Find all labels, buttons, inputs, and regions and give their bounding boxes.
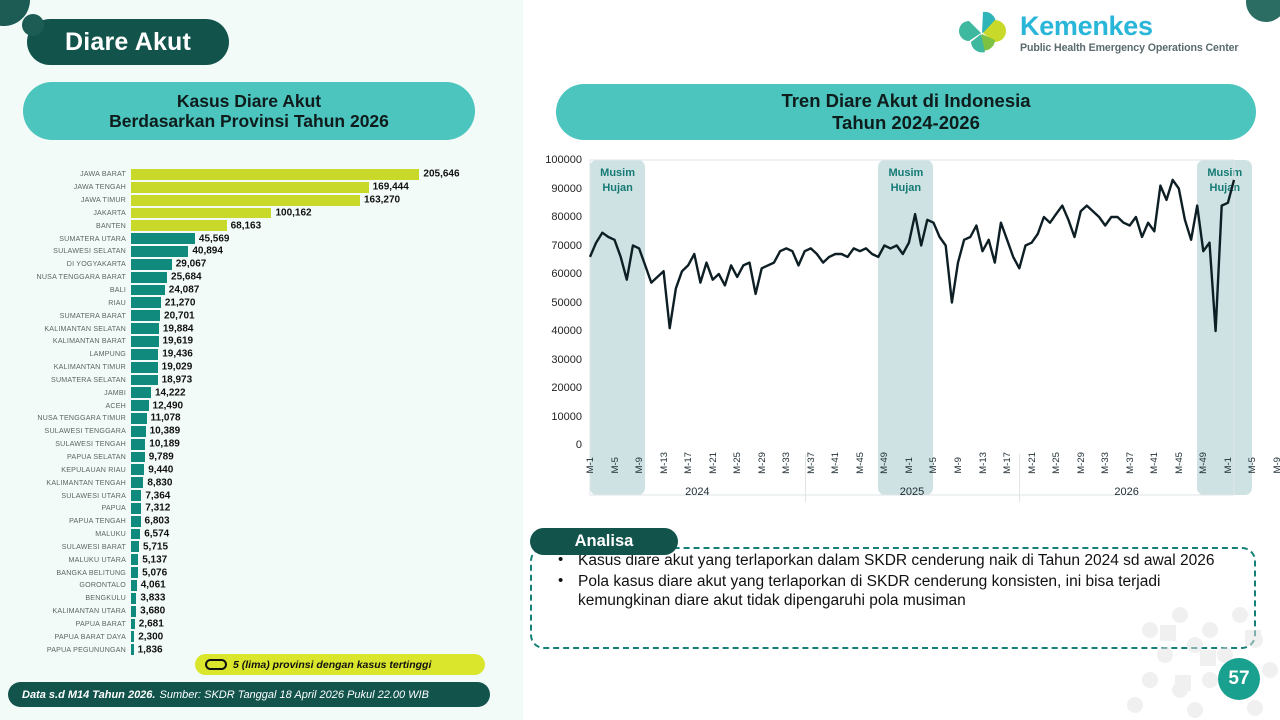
x-axis-tick-label: M-49: [1198, 452, 1209, 474]
bar-track: 2,681: [131, 618, 523, 631]
bar-track: 24,087: [131, 284, 523, 297]
year-separator: [1019, 454, 1020, 502]
bar-label: SULAWESI TENGAH: [0, 440, 131, 448]
bar-fill: [131, 439, 145, 450]
bar-row: ACEH12,490: [0, 399, 523, 412]
bar-fill: [131, 246, 188, 257]
bar-track: 19,436: [131, 348, 523, 361]
legend-capsule-icon: [205, 659, 227, 670]
bar-fill: [131, 195, 360, 206]
bar-label: PAPUA PEGUNUNGAN: [0, 646, 131, 654]
bar-label: PAPUA TENGAH: [0, 517, 131, 525]
corner-decoration-dot: [22, 14, 44, 36]
bar-fill: [131, 580, 137, 591]
x-axis-tick-label: M-13: [978, 452, 989, 474]
x-axis-tick-label: M-5: [928, 457, 939, 474]
bar-row: GORONTALO4,061: [0, 579, 523, 592]
bar-label: ACEH: [0, 402, 131, 410]
bar-row: BENGKULU3,833: [0, 592, 523, 605]
bar-fill: [131, 452, 145, 463]
bar-label: SULAWESI BARAT: [0, 543, 131, 551]
x-axis-tick-label: M-13: [659, 452, 670, 474]
bar-value: 29,067: [176, 259, 207, 270]
bar-label: SUMATERA BARAT: [0, 312, 131, 320]
bar-value: 40,894: [192, 246, 223, 257]
bar-row: PAPUA SELATAN9,789: [0, 451, 523, 464]
bar-row: PAPUA TENGAH6,803: [0, 515, 523, 528]
bar-value: 163,270: [364, 195, 400, 206]
bar-label: NUSA TENGGARA BARAT: [0, 273, 131, 281]
bar-value: 45,569: [199, 233, 230, 244]
bar-row: SUMATERA UTARA45,569: [0, 232, 523, 245]
bar-fill: [131, 169, 419, 180]
x-axis-tick-label: M-37: [806, 452, 817, 474]
bar-fill: [131, 503, 141, 514]
left-chart-title: Kasus Diare Akut Berdasarkan Provinsi Ta…: [23, 82, 475, 140]
bar-value: 100,162: [275, 207, 311, 218]
bar-fill: [131, 541, 139, 552]
bar-track: 10,189: [131, 438, 523, 451]
bar-track: 100,162: [131, 207, 523, 220]
bar-value: 2,681: [139, 618, 164, 629]
bar-label: JAWA TIMUR: [0, 196, 131, 204]
bar-label: PAPUA SELATAN: [0, 453, 131, 461]
bar-value: 68,163: [231, 220, 262, 231]
bar-row: MALUKU6,574: [0, 528, 523, 541]
x-axis-tick-label: M-9: [1272, 457, 1280, 474]
bar-value: 6,574: [144, 529, 169, 540]
x-axis-tick-label: M-29: [757, 452, 768, 474]
bar-track: 40,894: [131, 245, 523, 258]
bar-row: SULAWESI TENGAH10,189: [0, 438, 523, 451]
bar-value: 6,803: [145, 516, 170, 527]
bar-fill: [131, 644, 134, 655]
x-axis-tick-label: M-17: [1002, 452, 1013, 474]
bar-track: 11,078: [131, 412, 523, 425]
bar-fill: [131, 310, 160, 321]
year-separator: [805, 454, 806, 502]
decorative-pattern: [1090, 590, 1280, 720]
bar-value: 20,701: [164, 310, 195, 321]
x-axis-year-label: 2026: [1019, 486, 1234, 498]
bar-label: KALIMANTAN SELATAN: [0, 325, 131, 333]
bar-label: NUSA TENGGARA TIMUR: [0, 414, 131, 422]
x-axis-tick-label: M-9: [634, 457, 645, 474]
bar-label: PAPUA: [0, 504, 131, 512]
province-bar-chart: JAWA BARAT205,646JAWA TENGAH169,444JAWA …: [0, 168, 523, 663]
x-axis-year-label: 2025: [805, 486, 1020, 498]
bar-track: 205,646: [131, 168, 523, 181]
bar-label: GORONTALO: [0, 581, 131, 589]
bar-fill: [131, 593, 136, 604]
bar-fill: [131, 413, 147, 424]
bar-row: KALIMANTAN TIMUR19,029: [0, 361, 523, 374]
bar-track: 5,137: [131, 553, 523, 566]
page-title: Diare Akut: [27, 19, 229, 65]
bar-fill: [131, 208, 271, 219]
kemenkes-brand: Kemenkes: [1020, 13, 1238, 40]
bar-row: KALIMANTAN UTARA3,680: [0, 605, 523, 618]
x-axis-tick-label: M-41: [1149, 452, 1160, 474]
right-chart-title: Tren Diare Akut di Indonesia Tahun 2024-…: [556, 84, 1256, 140]
page-number-badge: 57: [1218, 658, 1260, 700]
analisa-tab-label: Analisa: [575, 532, 634, 551]
bar-value: 18,973: [162, 374, 193, 385]
bar-track: 9,789: [131, 451, 523, 464]
bar-value: 21,270: [165, 297, 196, 308]
bar-row: JAWA TENGAH169,444: [0, 181, 523, 194]
bar-track: 68,163: [131, 219, 523, 232]
bar-label: KALIMANTAN TENGAH: [0, 479, 131, 487]
x-axis-tick-label: M-9: [953, 457, 964, 474]
bar-value: 25,684: [171, 272, 202, 283]
bar-row: SULAWESI SELATAN40,894: [0, 245, 523, 258]
bar-track: 163,270: [131, 194, 523, 207]
x-axis-tick-label: M-29: [1076, 452, 1087, 474]
bar-label: JAWA BARAT: [0, 170, 131, 178]
bar-fill: [131, 567, 138, 578]
bar-fill: [131, 464, 144, 475]
bar-fill: [131, 426, 146, 437]
bar-label: JAKARTA: [0, 209, 131, 217]
x-axis-tick-label: M-5: [610, 457, 621, 474]
bar-row: JAMBI14,222: [0, 386, 523, 399]
kemenkes-logo-text: Kemenkes Public Health Emergency Operati…: [1020, 13, 1238, 54]
bar-track: 7,312: [131, 502, 523, 515]
bar-value: 5,715: [143, 541, 168, 552]
bar-label: PAPUA BARAT DAYA: [0, 633, 131, 641]
bar-value: 9,440: [148, 464, 173, 475]
bar-value: 7,364: [145, 490, 170, 501]
bar-track: 4,061: [131, 579, 523, 592]
bar-label: DI YOGYAKARTA: [0, 260, 131, 268]
kemenkes-logo: Kemenkes Public Health Emergency Operati…: [955, 8, 1238, 58]
right-chart-title-line1: Tren Diare Akut di Indonesia: [781, 90, 1030, 112]
bar-row: SUMATERA BARAT20,701: [0, 309, 523, 322]
bar-fill: [131, 285, 165, 296]
x-axis-tick-label: M-25: [732, 452, 743, 474]
bar-row: MALUKU UTARA5,137: [0, 553, 523, 566]
bar-label: KALIMANTAN BARAT: [0, 337, 131, 345]
bar-fill: [131, 349, 158, 360]
bar-track: 45,569: [131, 232, 523, 245]
bar-label: SUMATERA SELATAN: [0, 376, 131, 384]
bar-fill: [131, 387, 151, 398]
bar-label: SUMATERA UTARA: [0, 235, 131, 243]
bar-track: 2,300: [131, 630, 523, 643]
footer-data-period: Data s.d M14 Tahun 2026.: [22, 689, 155, 701]
bar-fill: [131, 490, 141, 501]
bar-label: SULAWESI SELATAN: [0, 247, 131, 255]
bar-value: 19,884: [163, 323, 194, 334]
bar-label: KEPULAUAN RIAU: [0, 466, 131, 474]
x-axis-tick-label: M-41: [830, 452, 841, 474]
bar-row: BANGKA BELITUNG5,076: [0, 566, 523, 579]
kemenkes-logo-mark: [955, 8, 1011, 58]
bar-row: KALIMANTAN TENGAH8,830: [0, 476, 523, 489]
analisa-tab: Analisa: [530, 528, 678, 555]
bar-fill: [131, 554, 138, 565]
bar-label: JAMBI: [0, 389, 131, 397]
bar-value: 14,222: [155, 387, 186, 398]
bar-label: KALIMANTAN TIMUR: [0, 363, 131, 371]
bar-label: BANTEN: [0, 222, 131, 230]
bar-row: PAPUA BARAT DAYA2,300: [0, 630, 523, 643]
bar-row: BANTEN68,163: [0, 219, 523, 232]
corner-decoration-top-right: [1246, 0, 1280, 22]
bar-value: 19,619: [163, 336, 194, 347]
bar-track: 14,222: [131, 386, 523, 399]
x-axis-tick-label: M-45: [855, 452, 866, 474]
bar-value: 5,137: [142, 554, 167, 565]
bar-fill: [131, 375, 158, 386]
right-chart-title-line2: Tahun 2024-2026: [832, 112, 980, 134]
bar-value: 3,680: [140, 606, 165, 617]
bar-fill: [131, 259, 172, 270]
bar-fill: [131, 400, 149, 411]
bar-row: RIAU21,270: [0, 296, 523, 309]
x-axis-tick-label: M-33: [1100, 452, 1111, 474]
x-axis-tick-label: M-45: [1174, 452, 1185, 474]
bar-value: 19,436: [162, 349, 193, 360]
left-chart-title-line1: Kasus Diare Akut: [177, 91, 321, 111]
bar-fill: [131, 619, 135, 630]
bar-row: SULAWESI BARAT5,715: [0, 540, 523, 553]
bar-fill: [131, 529, 140, 540]
page-number-label: 57: [1228, 668, 1249, 690]
bar-value: 8,830: [147, 477, 172, 488]
bar-label: BENGKULU: [0, 594, 131, 602]
bar-label: SULAWESI UTARA: [0, 492, 131, 500]
bar-row: PAPUA7,312: [0, 502, 523, 515]
bar-track: 18,973: [131, 374, 523, 387]
x-axis-tick-label: M-1: [1223, 457, 1234, 474]
bar-track: 5,715: [131, 540, 523, 553]
bar-row: KEPULAUAN RIAU9,440: [0, 463, 523, 476]
bar-label: RIAU: [0, 299, 131, 307]
bar-row: DI YOGYAKARTA29,067: [0, 258, 523, 271]
x-axis-tick-label: M-25: [1051, 452, 1062, 474]
bar-label: KALIMANTAN UTARA: [0, 607, 131, 615]
bar-fill: [131, 272, 167, 283]
bar-track: 9,440: [131, 463, 523, 476]
bar-value: 205,646: [423, 169, 459, 180]
bar-label: SULAWESI TENGGARA: [0, 427, 131, 435]
bar-track: 6,803: [131, 515, 523, 528]
bar-value: 19,029: [162, 362, 193, 373]
bar-fill: [131, 233, 195, 244]
bar-label: JAWA TENGAH: [0, 183, 131, 191]
x-axis-tick-label: M-1: [585, 457, 596, 474]
bar-track: 3,680: [131, 605, 523, 618]
bar-track: 6,574: [131, 528, 523, 541]
bar-value: 10,189: [149, 439, 180, 450]
bar-track: 25,684: [131, 271, 523, 284]
bar-fill: [131, 606, 136, 617]
bar-value: 169,444: [373, 182, 409, 193]
bar-fill: [131, 297, 161, 308]
bar-track: 3,833: [131, 592, 523, 605]
bar-label: LAMPUNG: [0, 350, 131, 358]
bar-label: PAPUA BARAT: [0, 620, 131, 628]
bar-track: 19,029: [131, 361, 523, 374]
bar-fill: [131, 477, 143, 488]
bar-fill: [131, 362, 158, 373]
bar-value: 9,789: [149, 451, 174, 462]
bar-value: 2,300: [138, 631, 163, 642]
bar-value: 10,389: [150, 426, 181, 437]
x-axis-tick-label: M-21: [708, 452, 719, 474]
bar-value: 7,312: [145, 503, 170, 514]
bar-fill: [131, 336, 159, 347]
bar-label: MALUKU UTARA: [0, 556, 131, 564]
left-panel: Diare Akut Kasus Diare Akut Berdasarkan …: [0, 0, 523, 720]
left-chart-title-line2: Berdasarkan Provinsi Tahun 2026: [109, 111, 389, 131]
x-axis-tick-label: M-33: [781, 452, 792, 474]
bar-row: JAWA TIMUR163,270: [0, 194, 523, 207]
x-axis-tick-label: M-49: [879, 452, 890, 474]
bar-track: 169,444: [131, 181, 523, 194]
bar-row: KALIMANTAN BARAT19,619: [0, 335, 523, 348]
bar-track: 7,364: [131, 489, 523, 502]
bar-track: 19,884: [131, 322, 523, 335]
bar-track: 29,067: [131, 258, 523, 271]
x-axis-tick-label: M-17: [683, 452, 694, 474]
page-title-label: Diare Akut: [65, 28, 191, 57]
kemenkes-tagline: Public Health Emergency Operations Cente…: [1020, 42, 1238, 54]
x-axis-tick-label: M-5: [1247, 457, 1258, 474]
bar-fill: [131, 631, 134, 642]
bar-track: 8,830: [131, 476, 523, 489]
bar-track: 10,389: [131, 425, 523, 438]
bar-row: LAMPUNG19,436: [0, 348, 523, 361]
x-axis-tick-label: M-21: [1027, 452, 1038, 474]
bar-row: KALIMANTAN SELATAN19,884: [0, 322, 523, 335]
bar-value: 4,061: [141, 580, 166, 591]
bar-value: 1,836: [138, 644, 163, 655]
footer-source: Sumber: SKDR Tanggal 18 April 2026 Pukul…: [159, 689, 428, 701]
bar-row: BALI24,087: [0, 284, 523, 297]
x-axis-year-label: 2024: [590, 486, 805, 498]
bar-track: 12,490: [131, 399, 523, 412]
bar-track: 5,076: [131, 566, 523, 579]
bar-row: SULAWESI UTARA7,364: [0, 489, 523, 502]
bar-fill: [131, 516, 141, 527]
bar-fill: [131, 323, 159, 334]
x-axis-tick-label: M-1: [904, 457, 915, 474]
bar-row: JAWA BARAT205,646: [0, 168, 523, 181]
bar-fill: [131, 220, 227, 231]
bar-label: BALI: [0, 286, 131, 294]
x-axis-tick-label: M-37: [1125, 452, 1136, 474]
bar-value: 11,078: [151, 413, 181, 424]
bar-track: 21,270: [131, 296, 523, 309]
trend-line-chart: 0100002000030000400005000060000700008000…: [528, 152, 1256, 512]
bar-value: 12,490: [153, 400, 184, 411]
legend-top5-label: 5 (lima) provinsi dengan kasus tertinggi: [233, 659, 431, 671]
legend-top5: 5 (lima) provinsi dengan kasus tertinggi: [195, 654, 485, 675]
bar-label: BANGKA BELITUNG: [0, 569, 131, 577]
bar-row: SULAWESI TENGGARA10,389: [0, 425, 523, 438]
bar-row: PAPUA BARAT2,681: [0, 618, 523, 631]
bar-row: NUSA TENGGARA BARAT25,684: [0, 271, 523, 284]
bar-fill: [131, 182, 369, 193]
bar-value: 3,833: [140, 593, 165, 604]
bar-value: 24,087: [169, 285, 200, 296]
source-footer: Data s.d M14 Tahun 2026. Sumber: SKDR Ta…: [8, 682, 490, 707]
bar-value: 5,076: [142, 567, 167, 578]
bar-row: NUSA TENGGARA TIMUR11,078: [0, 412, 523, 425]
bar-label: MALUKU: [0, 530, 131, 538]
bar-row: SUMATERA SELATAN18,973: [0, 374, 523, 387]
bar-row: JAKARTA100,162: [0, 207, 523, 220]
bar-track: 20,701: [131, 309, 523, 322]
bar-track: 19,619: [131, 335, 523, 348]
